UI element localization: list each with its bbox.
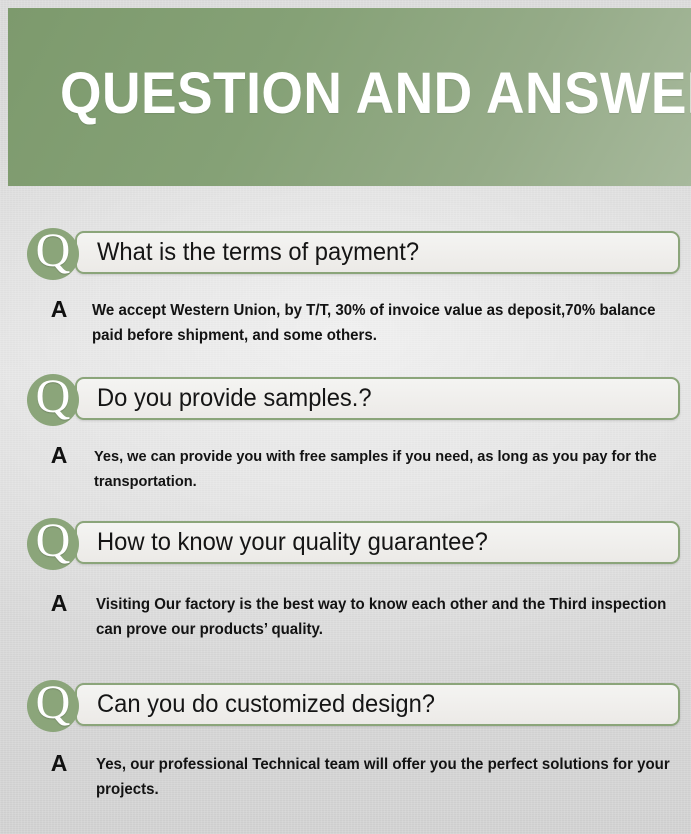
question-row[interactable]: Q Can you do customized design? [27, 680, 691, 736]
question-box[interactable]: How to know your quality guarantee? [75, 521, 680, 564]
answer-row: A We accept Western Union, by T/T, 30% o… [48, 284, 691, 348]
question-row[interactable]: Q Do you provide samples.? [27, 374, 691, 430]
qa-item: Q How to know your quality guarantee? A … [0, 494, 691, 642]
page-title: QUESTION AND ANSWER [60, 60, 691, 127]
qa-item: Q Do you provide samples.? A Yes, we can… [0, 348, 691, 494]
qa-item: Q What is the terms of payment? A We acc… [0, 186, 691, 348]
answer-badge-label: A [48, 296, 70, 323]
question-box[interactable]: Can you do customized design? [75, 683, 680, 726]
question-badge-icon: Q [27, 518, 79, 570]
answer-row: A Yes, our professional Technical team w… [48, 736, 691, 802]
answer-row: A Visiting Our factory is the best way t… [48, 574, 691, 642]
answer-badge-label: A [48, 590, 70, 617]
question-box[interactable]: What is the terms of payment? [75, 231, 680, 274]
answer-text: We accept Western Union, by T/T, 30% of … [92, 298, 678, 348]
question-badge-icon: Q [27, 374, 79, 426]
question-badge-icon: Q [27, 680, 79, 732]
question-text: How to know your quality guarantee? [97, 523, 488, 562]
question-box[interactable]: Do you provide samples.? [75, 377, 680, 420]
question-row[interactable]: Q What is the terms of payment? [27, 228, 691, 284]
question-badge-label: Q [27, 225, 79, 277]
question-text: Can you do customized design? [97, 685, 435, 724]
question-badge-label: Q [27, 677, 79, 729]
header-banner: QUESTION AND ANSWER [8, 8, 691, 186]
faq-page: QUESTION AND ANSWER Q What is the terms … [0, 0, 691, 834]
question-badge-icon: Q [27, 228, 79, 280]
qa-list: Q What is the terms of payment? A We acc… [0, 186, 691, 802]
answer-text: Yes, our professional Technical team wil… [96, 752, 674, 802]
question-text: What is the terms of payment? [97, 233, 419, 272]
question-badge-label: Q [27, 371, 79, 423]
answer-badge-label: A [48, 442, 70, 469]
answer-text: Visiting Our factory is the best way to … [96, 592, 670, 642]
qa-item: Q Can you do customized design? A Yes, o… [0, 642, 691, 802]
answer-row: A Yes, we can provide you with free samp… [48, 430, 691, 494]
question-row[interactable]: Q How to know your quality guarantee? [27, 518, 691, 574]
answer-badge-label: A [48, 750, 70, 777]
question-badge-label: Q [27, 515, 79, 567]
answer-text: Yes, we can provide you with free sample… [94, 444, 678, 494]
question-text: Do you provide samples.? [97, 379, 372, 418]
